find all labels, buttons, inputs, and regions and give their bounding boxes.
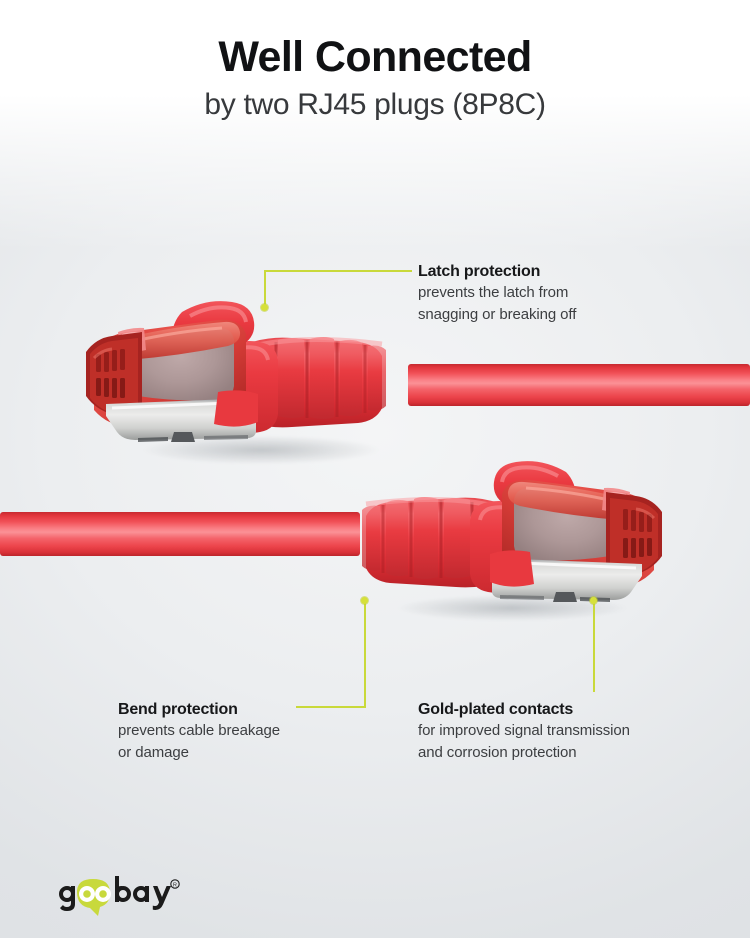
callout-gold-line1: for improved signal transmission <box>418 720 708 741</box>
callout-latch-line1: prevents the latch from <box>418 282 668 303</box>
leader-line-latch-horizontal <box>264 270 412 272</box>
logo-wordmark <box>59 876 171 911</box>
page-title: Well Connected <box>0 34 750 80</box>
cable-top <box>408 364 750 406</box>
callout-gold-plated-contacts: Gold-plated contacts for improved signal… <box>418 700 708 763</box>
callout-latch-protection: Latch protection prevents the latch from… <box>418 262 668 325</box>
callout-bend-protection: Bend protection prevents cable breakage … <box>118 700 358 763</box>
goobay-logo: R <box>47 872 227 916</box>
rj45-plug-top <box>78 292 418 452</box>
leader-dot-bend <box>361 597 368 604</box>
leader-line-gold-vertical <box>593 600 595 692</box>
leader-dot-latch <box>261 304 268 311</box>
page-subtitle: by two RJ45 plugs (8P8C) <box>0 88 750 121</box>
callout-bend-line1: prevents cable breakage <box>118 720 358 741</box>
leader-line-bend-vertical <box>364 600 366 708</box>
header: Well Connected by two RJ45 plugs (8P8C) <box>0 34 750 121</box>
callout-bend-line2: or damage <box>118 742 358 763</box>
callout-bend-heading: Bend protection <box>118 700 358 720</box>
callout-latch-line2: snagging or breaking off <box>418 304 668 325</box>
cable-bottom-jacket <box>0 512 360 556</box>
cable-top-jacket <box>408 364 750 406</box>
leader-dot-gold <box>590 597 597 604</box>
rj45-plug-bottom <box>330 452 670 612</box>
callout-gold-line2: and corrosion protection <box>418 742 708 763</box>
callout-gold-heading: Gold-plated contacts <box>418 700 708 720</box>
callout-latch-heading: Latch protection <box>418 262 668 282</box>
infographic-canvas: Well Connected by two RJ45 plugs (8P8C) <box>0 0 750 938</box>
leader-line-bend-horizontal <box>296 706 366 708</box>
registered-trademark-icon: R <box>171 880 179 889</box>
cable-bottom <box>0 512 360 556</box>
svg-text:R: R <box>173 882 177 888</box>
leader-line-latch-vertical <box>264 270 266 308</box>
